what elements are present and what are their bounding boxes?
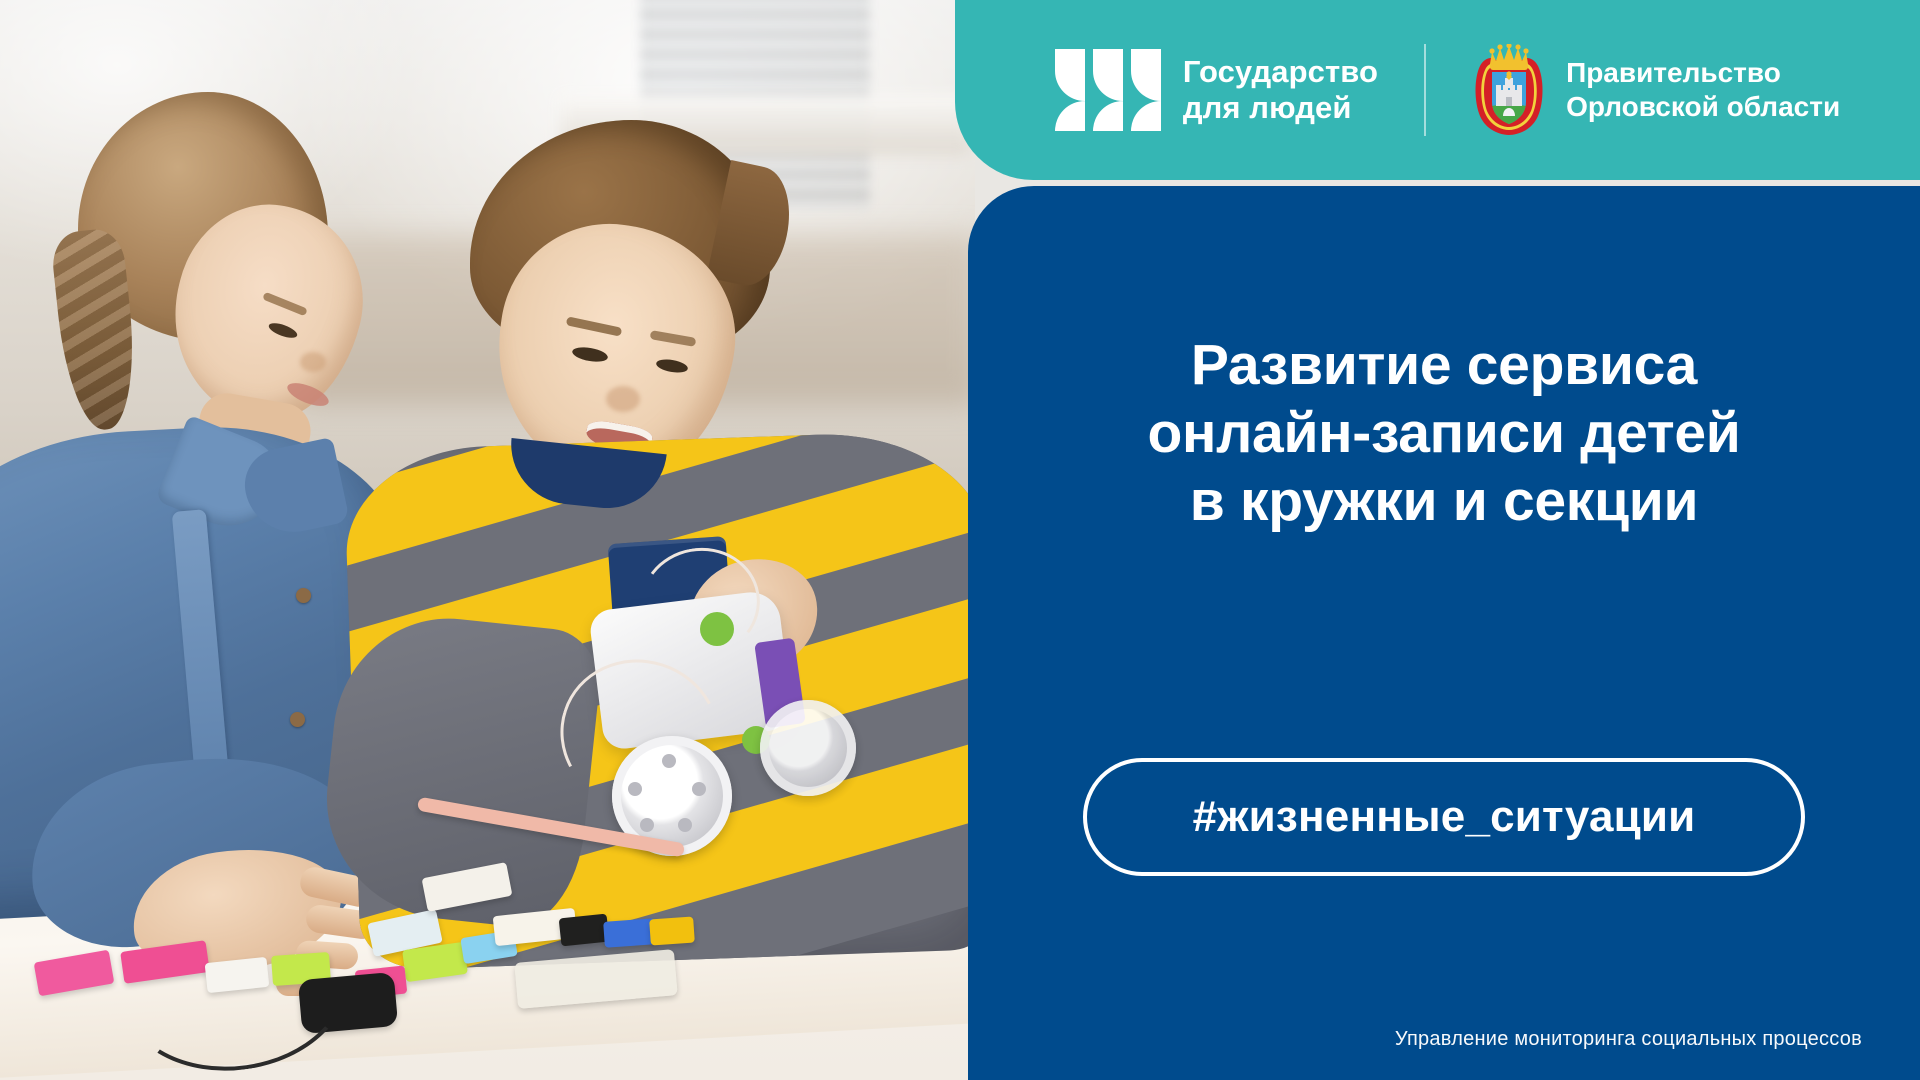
boy-nose (606, 386, 640, 412)
photo-children-robotics (0, 0, 975, 1080)
brand-gosuslugi: Государство для людей (1055, 49, 1378, 131)
main-content: Развитие сервиса онлайн-записи детей в к… (968, 186, 1920, 1080)
government-label: Правительство Орловской области (1566, 56, 1840, 123)
black-component (559, 914, 610, 947)
electronic-part (649, 916, 695, 945)
oryol-oblast-coat-of-arms-icon (1472, 44, 1546, 136)
department-caption: Управление мониторинга социальных процес… (1395, 1028, 1862, 1051)
brand-header-inner: Государство для людей (955, 0, 1920, 180)
main-blue-panel: Развитие сервиса онлайн-записи детей в к… (968, 186, 1920, 1080)
gosuslugi-label: Государство для людей (1183, 54, 1378, 126)
brand-header-panel: Государство для людей (955, 0, 1920, 180)
brand-divider (1424, 44, 1426, 136)
wheel-hole (640, 818, 654, 832)
wheel-hole (678, 818, 692, 832)
girl-nose (300, 352, 326, 372)
hashtag-button[interactable]: #жизненные_ситуации (1083, 758, 1805, 876)
promo-poster: Государство для людей (0, 0, 1920, 1080)
gosuslugi-three-flags-icon (1055, 49, 1161, 131)
robot-wheel (760, 700, 856, 796)
brand-government: Правительство Орловской области (1472, 44, 1840, 136)
page-title: Развитие сервиса онлайн-записи детей в к… (1024, 332, 1864, 535)
